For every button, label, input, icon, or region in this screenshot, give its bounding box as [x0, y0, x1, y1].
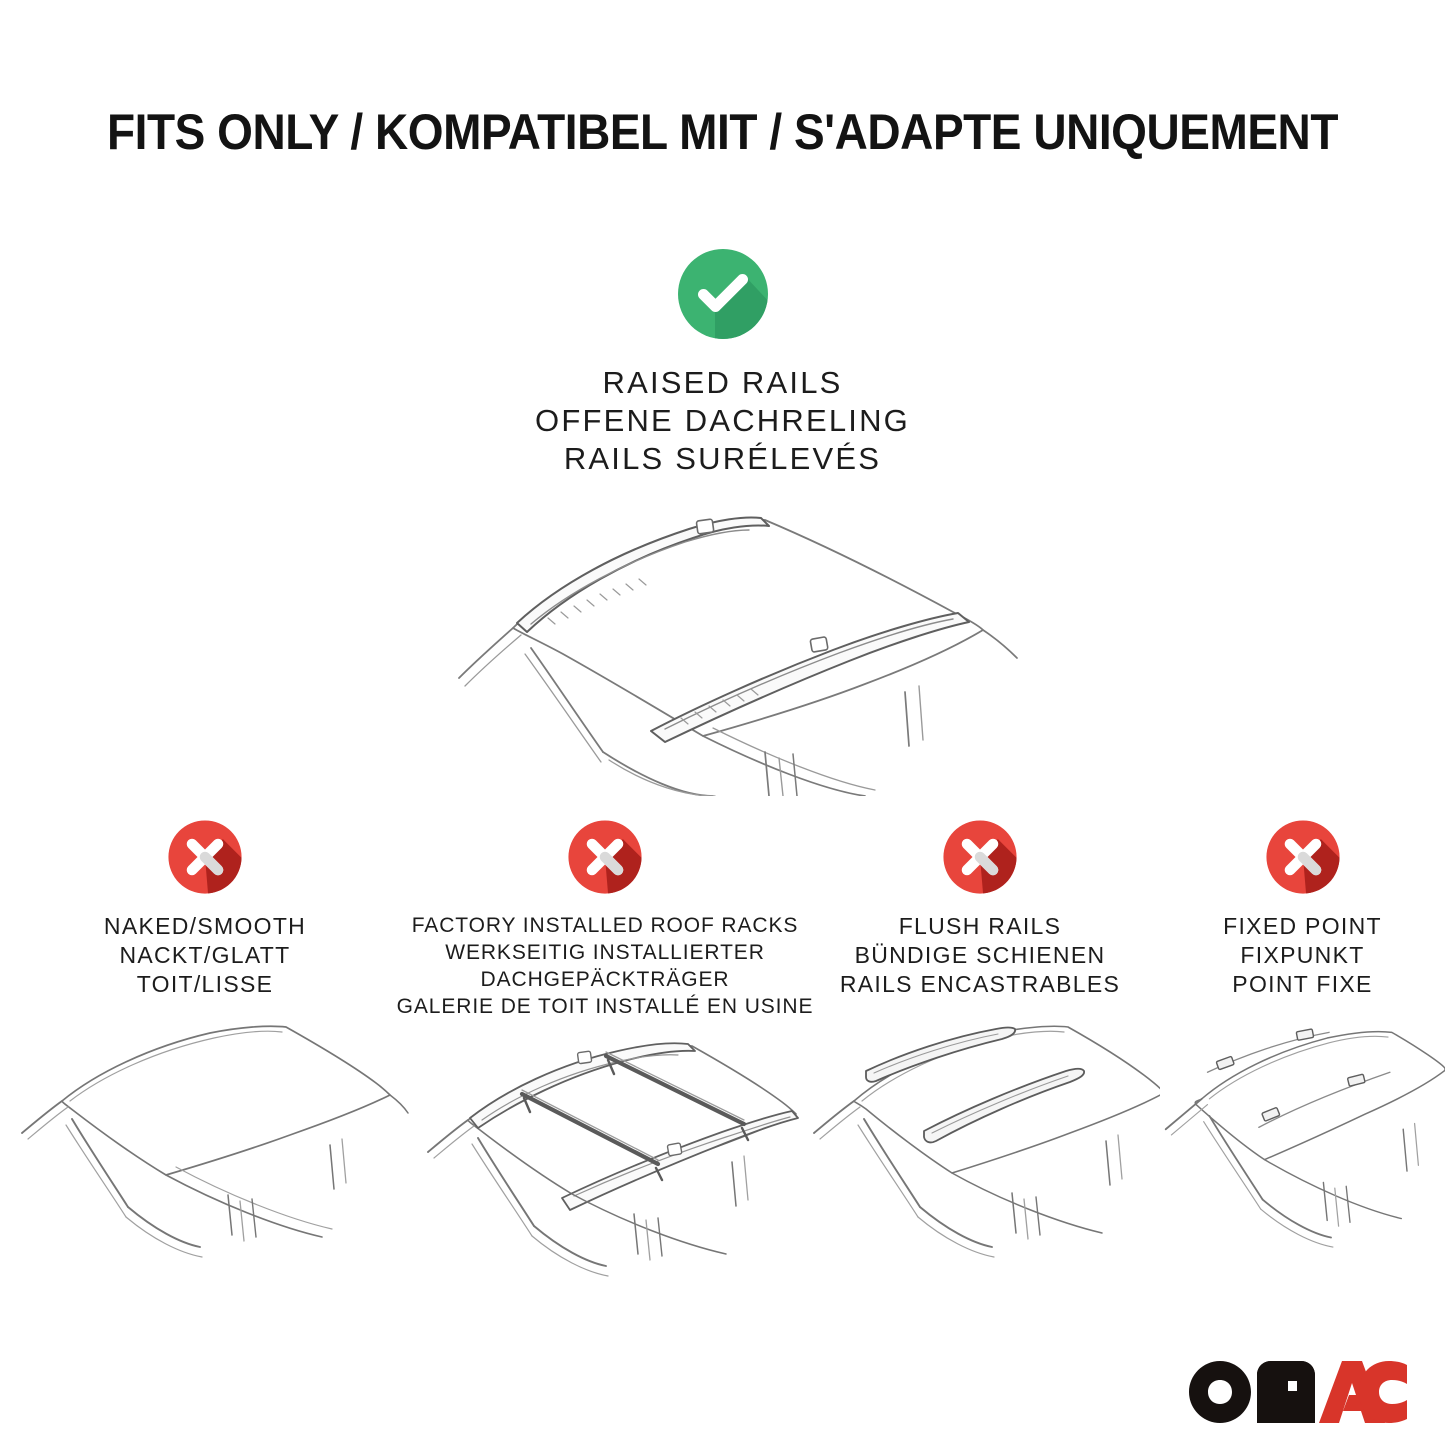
x-circle-icon: [1264, 818, 1342, 896]
incompatible-item-factory-roof-racks: FACTORY INSTALLED ROOF RACKS WERKSEITIG …: [410, 818, 800, 1280]
label-de: FIXPUNKT: [1223, 941, 1382, 970]
compatible-labels: RAISED RAILS OFFENE DACHRELING RAILS SUR…: [535, 364, 910, 478]
car-roof-bare-illustration: [0, 1009, 410, 1259]
incompatible-labels-fixed-point: FIXED POINT FIXPUNKT POINT FIXE: [1223, 912, 1382, 999]
label-en: FIXED POINT: [1223, 912, 1382, 941]
compatible-section: RAISED RAILS OFFENE DACHRELING RAILS SUR…: [0, 246, 1445, 478]
x-circle-icon: [941, 818, 1019, 896]
incompatible-item-naked-smooth: NAKED/SMOOTH NACKT/GLATT TOIT/LISSE: [0, 818, 410, 1259]
incompatible-item-fixed-point: FIXED POINT FIXPUNKT POINT FIXE: [1160, 818, 1445, 1259]
label-fr: GALERIE DE TOIT INSTALLÉ EN USINE: [397, 993, 814, 1020]
compatible-label-en: RAISED RAILS: [535, 364, 910, 402]
incompatible-section: NAKED/SMOOTH NACKT/GLATT TOIT/LISSE: [0, 818, 1445, 1280]
car-roof-flush-rails-illustration: [800, 1009, 1160, 1259]
incompatible-labels-naked-smooth: NAKED/SMOOTH NACKT/GLATT TOIT/LISSE: [104, 912, 306, 999]
label-en: FLUSH RAILS: [840, 912, 1120, 941]
label-de-2: DACHGEPÄCKTRÄGER: [397, 966, 814, 993]
car-roof-fixed-point-illustration: [1160, 1009, 1445, 1259]
page-title: FITS ONLY / KOMPATIBEL MIT / S'ADAPTE UN…: [58, 104, 1387, 160]
car-roof-raised-rails-illustration: [413, 496, 1033, 796]
label-fr: POINT FIXE: [1223, 970, 1382, 999]
car-roof-with-crossbars-illustration: [410, 1030, 800, 1280]
compatible-label-de: OFFENE DACHRELING: [535, 402, 910, 440]
label-de: NACKT/GLATT: [104, 941, 306, 970]
omac-logo: OMAC: [1189, 1361, 1407, 1423]
label-en: NAKED/SMOOTH: [104, 912, 306, 941]
label-fr: TOIT/LISSE: [104, 970, 306, 999]
incompatible-labels-flush-rails: FLUSH RAILS BÜNDIGE SCHIENEN RAILS ENCAS…: [840, 912, 1120, 999]
compatible-label-fr: RAILS SURÉLEVÉS: [535, 440, 910, 478]
label-fr: RAILS ENCASTRABLES: [840, 970, 1120, 999]
label-de-1: WERKSEITIG INSTALLIERTER: [397, 939, 814, 966]
compatibility-infographic: FITS ONLY / KOMPATIBEL MIT / S'ADAPTE UN…: [0, 0, 1445, 1445]
check-circle-icon: [675, 246, 771, 342]
incompatible-labels-factory-roof-racks: FACTORY INSTALLED ROOF RACKS WERKSEITIG …: [397, 912, 814, 1020]
label-en: FACTORY INSTALLED ROOF RACKS: [397, 912, 814, 939]
x-circle-icon: [566, 818, 644, 896]
x-circle-icon: [166, 818, 244, 896]
label-de: BÜNDIGE SCHIENEN: [840, 941, 1120, 970]
incompatible-item-flush-rails: FLUSH RAILS BÜNDIGE SCHIENEN RAILS ENCAS…: [800, 818, 1160, 1259]
